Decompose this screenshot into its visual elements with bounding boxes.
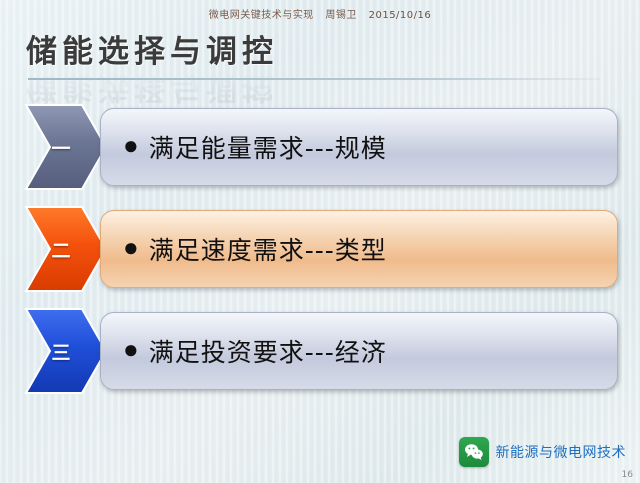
chevron-icon (24, 307, 108, 395)
slide: 微电网关键技术与实现 周锡卫 2015/10/16 储能选择与调控 储能选择与调… (0, 0, 640, 483)
page-title-reflection: 储能选择与调控 (26, 71, 546, 104)
content-bar: ● 满足投资要求---经济 (100, 312, 618, 390)
header-course: 微电网关键技术与实现 (209, 10, 314, 21)
bullet-icon: ● (123, 132, 139, 158)
page-title-text: 储能选择与调控 (26, 36, 546, 69)
slide-header: 微电网关键技术与实现 周锡卫 2015/10/16 (0, 6, 640, 21)
content-rows: 一 ● 满足能量需求---规模 (24, 103, 618, 409)
bullet-icon: ● (123, 234, 139, 260)
header-author: 周锡卫 (325, 10, 357, 21)
footer-logo: 新能源与微电网技术 (459, 437, 627, 467)
bullet-icon: ● (123, 336, 139, 362)
chevron-icon (24, 103, 108, 191)
title-divider (28, 78, 600, 80)
wechat-icon (459, 437, 489, 467)
content-row: 一 ● 满足能量需求---规模 (24, 103, 618, 191)
chevron-icon (24, 205, 108, 293)
content-bar-text: 满足投资要求---经济 (149, 333, 387, 369)
header-date: 2015/10/16 (369, 10, 432, 21)
page-number: 16 (622, 470, 633, 480)
content-bar-text: 满足速度需求---类型 (149, 231, 387, 267)
content-bar: ● 满足能量需求---规模 (100, 108, 618, 186)
footer-logo-text: 新能源与微电网技术 (496, 442, 627, 462)
page-title: 储能选择与调控 储能选择与调控 (26, 36, 546, 103)
content-row: 二 ● 满足速度需求---类型 (24, 205, 618, 293)
content-bar: ● 满足速度需求---类型 (100, 210, 618, 288)
content-row: 三 ● 满足投资要求---经济 (24, 307, 618, 395)
content-bar-text: 满足能量需求---规模 (149, 129, 387, 165)
